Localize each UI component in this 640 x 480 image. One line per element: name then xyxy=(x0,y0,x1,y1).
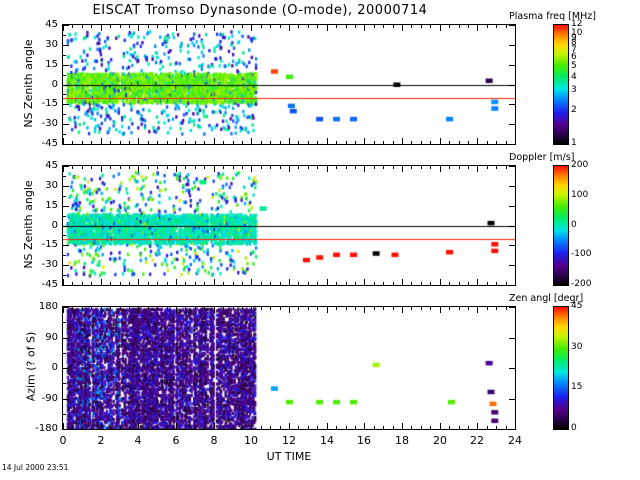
doppler-panel-xminor-tick xyxy=(91,282,92,286)
doppler-panel-xminor-tick xyxy=(251,165,252,169)
plasma-frequency-panel-xminor-tick xyxy=(148,141,149,145)
doppler-panel-xminor-tick xyxy=(449,282,450,286)
azimuth-panel-xminor-tick xyxy=(280,426,281,430)
doppler-panel-xminor-tick xyxy=(261,282,262,286)
plasma-frequency-panel-ytick xyxy=(509,65,516,66)
doppler-panel-xminor-tick xyxy=(233,165,234,169)
azimuth-panel-xminor-tick xyxy=(214,426,215,430)
azimuth-panel-xminor-tick xyxy=(251,306,252,310)
azimuth-panel-xminor-tick xyxy=(157,426,158,430)
plasma-frequency-panel-xminor-tick xyxy=(148,24,149,28)
xaxis-label: UT TIME xyxy=(62,450,516,463)
azimuth-panel-xminor-tick xyxy=(82,306,83,310)
plasma-frequency-panel-xminor-tick xyxy=(496,24,497,28)
doppler-panel-xminor-tick xyxy=(449,165,450,169)
plasma-frequency-panel-xminor-tick xyxy=(101,141,102,145)
doppler-panel-xminor-tick xyxy=(487,165,488,169)
azimuth-panel-xminor-tick xyxy=(63,426,64,430)
doppler-panel-xminor-tick xyxy=(129,282,130,286)
plasma-frequency-panel-yminor-tick xyxy=(62,35,66,36)
azimuth-panel-xminor-tick xyxy=(157,306,158,310)
plasma-frequency-panel-xminor-tick xyxy=(440,141,441,145)
plasma-frequency-panel-ytick xyxy=(509,124,516,125)
azimuth-panel-xminor-tick xyxy=(110,426,111,430)
azimuth-panel-xminor-tick xyxy=(355,306,356,310)
plasma-frequency-panel-ylabel: NS Zenith angle xyxy=(22,3,35,164)
xtick-label: 24 xyxy=(501,434,529,447)
doppler-panel-xminor-tick xyxy=(82,282,83,286)
zenith-angle-colorbar xyxy=(553,306,569,430)
azimuth-panel-xminor-tick xyxy=(515,306,516,310)
azimuth-panel-xminor-tick xyxy=(298,426,299,430)
plasma-frequency-panel-xminor-tick xyxy=(223,24,224,28)
figure-root: EISCAT Tromso Dynasonde (O-mode), 200007… xyxy=(0,0,640,480)
plasma-frequency-panel-xminor-tick xyxy=(138,141,139,145)
azimuth-panel-xminor-tick xyxy=(430,306,431,310)
plasma-frequency-panel-ytick xyxy=(509,85,516,86)
doppler-panel-xminor-tick xyxy=(355,165,356,169)
plasma-frequency-panel-xminor-tick xyxy=(336,141,337,145)
doppler-panel-yminor-tick xyxy=(62,176,66,177)
azimuth-panel-xminor-tick xyxy=(364,426,365,430)
azimuth-panel-xminor-tick xyxy=(449,306,450,310)
azimuth-panel-yminor-tick xyxy=(62,322,66,323)
doppler-panel-xminor-tick xyxy=(393,165,394,169)
doppler-panel-xminor-tick xyxy=(298,282,299,286)
plasma-frequency-panel-xminor-tick xyxy=(167,24,168,28)
azimuth-panel-xminor-tick xyxy=(251,426,252,430)
plasma-frequency-panel-xminor-tick xyxy=(176,141,177,145)
zenith-angle-colorbar-gradient xyxy=(554,307,568,429)
plasma-frequency-panel-ytick xyxy=(509,104,516,105)
azimuth-panel-plot-area[interactable] xyxy=(63,307,515,429)
xtick-label: 22 xyxy=(463,434,491,447)
azimuth-panel-xminor-tick xyxy=(270,306,271,310)
azimuth-panel-xminor-tick xyxy=(298,306,299,310)
plasma-frequency-panel-xminor-tick xyxy=(308,141,309,145)
doppler-panel-xminor-tick xyxy=(298,165,299,169)
azimuth-panel-xminor-tick xyxy=(393,306,394,310)
plasma-frequency-panel-xminor-tick xyxy=(402,24,403,28)
plasma-frequency-panel-xminor-tick xyxy=(63,141,64,145)
plasma-frequency-panel-xminor-tick xyxy=(449,24,450,28)
doppler-panel-xminor-tick xyxy=(138,165,139,169)
doppler-panel-xminor-tick xyxy=(515,165,516,169)
doppler-panel-xminor-tick xyxy=(459,165,460,169)
doppler-panel-xminor-tick xyxy=(63,165,64,169)
azimuth-panel-xminor-tick xyxy=(336,426,337,430)
doppler-panel-xminor-tick xyxy=(185,165,186,169)
plasma-frequency-panel-xminor-tick xyxy=(91,141,92,145)
plasma-frequency-panel-xminor-tick xyxy=(496,141,497,145)
plasma-frequency-panel-xminor-tick xyxy=(110,141,111,145)
doppler-panel-xminor-tick xyxy=(411,282,412,286)
azimuth-panel-yminor-tick xyxy=(62,414,66,415)
doppler-panel-xminor-tick xyxy=(421,282,422,286)
doppler-panel-yminor-tick xyxy=(62,216,66,217)
azimuth-panel-xminor-tick xyxy=(449,426,450,430)
doppler-colorbar-tick-label: 100 xyxy=(571,190,588,200)
plasma-frequency-panel-xminor-tick xyxy=(176,24,177,28)
azimuth-panel-xminor-tick xyxy=(402,426,403,430)
plasma-frequency-panel-xminor-tick xyxy=(261,24,262,28)
plasma-frequency-panel-xminor-tick xyxy=(430,141,431,145)
doppler-panel-xminor-tick xyxy=(402,165,403,169)
plasma-frequency-panel-xminor-tick xyxy=(91,24,92,28)
azimuth-panel-xminor-tick xyxy=(506,426,507,430)
doppler-panel-xminor-tick xyxy=(421,165,422,169)
azimuth-panel-xminor-tick xyxy=(101,426,102,430)
plasma-frequency-panel-xminor-tick xyxy=(430,24,431,28)
azimuth-panel-xminor-tick xyxy=(374,426,375,430)
doppler-panel-yminor-tick xyxy=(62,226,66,227)
doppler-panel-xminor-tick xyxy=(242,282,243,286)
plasma-frequency-panel-xminor-tick xyxy=(374,141,375,145)
plasma-frequency-panel-yminor-tick xyxy=(62,85,66,86)
plasma-frequency-panel-xminor-tick xyxy=(233,24,234,28)
plasma-frequency-panel-xminor-tick xyxy=(280,24,281,28)
plasma-frequency-panel-xminor-tick xyxy=(298,24,299,28)
azimuth-panel-xminor-tick xyxy=(72,426,73,430)
plasma-frequency-panel-xminor-tick xyxy=(515,141,516,145)
doppler-panel-xminor-tick xyxy=(289,165,290,169)
azimuth-panel-xminor-tick xyxy=(91,306,92,310)
plasma-frequency-panel-xminor-tick xyxy=(317,141,318,145)
azimuth-panel-xminor-tick xyxy=(317,306,318,310)
azimuth-panel-xminor-tick xyxy=(261,426,262,430)
azimuth-panel-xminor-tick xyxy=(355,426,356,430)
doppler-colorbar-title: Doppler [m/s] xyxy=(509,152,574,163)
plasma-frequency-panel-xminor-tick xyxy=(185,24,186,28)
azimuth-panel-xminor-tick xyxy=(242,426,243,430)
plasma-frequency-panel-xminor-tick xyxy=(157,24,158,28)
plasma-frequency-panel-xminor-tick xyxy=(82,24,83,28)
azimuth-panel-yminor-tick xyxy=(62,399,66,400)
azimuth-panel-xminor-tick xyxy=(459,426,460,430)
plasma-frequency-panel-xminor-tick xyxy=(242,141,243,145)
doppler-panel-xminor-tick xyxy=(176,282,177,286)
plasma-frequency-panel-xminor-tick xyxy=(157,141,158,145)
plasma-frequency-panel-xminor-tick xyxy=(487,24,488,28)
plasma-frequency-panel-xminor-tick xyxy=(63,24,64,28)
zenith-angle-colorbar-tick-label: 15 xyxy=(571,382,582,392)
plasma-frequency-panel-xminor-tick xyxy=(383,24,384,28)
plasma-frequency-panel-xminor-tick xyxy=(317,24,318,28)
azimuth-panel-xminor-tick xyxy=(496,306,497,310)
azimuth-panel-xminor-tick xyxy=(270,426,271,430)
render-timestamp: 14 Jul 2000 23:51 xyxy=(2,463,68,472)
plasma-freq-colorbar-title: Plasma freq [MHz] xyxy=(509,11,596,22)
azimuth-panel-xminor-tick xyxy=(383,426,384,430)
doppler-panel-xminor-tick xyxy=(346,282,347,286)
doppler-panel-xminor-tick xyxy=(91,165,92,169)
doppler-panel-yminor-tick xyxy=(62,235,66,236)
azimuth-panel-xminor-tick xyxy=(167,306,168,310)
azimuth-panel-yminor-tick xyxy=(62,338,66,339)
plasma-frequency-panel-xminor-tick xyxy=(383,141,384,145)
azimuth-panel-xminor-tick xyxy=(317,426,318,430)
doppler-panel-xminor-tick xyxy=(496,282,497,286)
plasma-frequency-panel-xminor-tick xyxy=(195,141,196,145)
plasma-frequency-panel-xminor-tick xyxy=(346,141,347,145)
azimuth-panel-xminor-tick xyxy=(204,426,205,430)
azimuth-panel-xminor-tick xyxy=(110,306,111,310)
doppler-panel-xminor-tick xyxy=(148,282,149,286)
doppler-panel-xminor-tick xyxy=(336,165,337,169)
doppler-panel-xminor-tick xyxy=(308,165,309,169)
plasma-frequency-panel-xminor-tick xyxy=(251,141,252,145)
azimuth-panel-ytick xyxy=(509,399,516,400)
doppler-panel-xminor-tick xyxy=(148,165,149,169)
plasma-freq-colorbar-tick-label: 2 xyxy=(571,105,577,115)
plasma-frequency-panel-xminor-tick xyxy=(506,24,507,28)
azimuth-panel-xminor-tick xyxy=(346,306,347,310)
plasma-frequency-panel-xminor-tick xyxy=(120,141,121,145)
plasma-frequency-panel-xminor-tick xyxy=(251,24,252,28)
plasma-frequency-panel-yminor-tick xyxy=(62,45,66,46)
plasma-frequency-panel-xminor-tick xyxy=(72,141,73,145)
azimuth-panel-xminor-tick xyxy=(185,306,186,310)
doppler-panel-xminor-tick xyxy=(440,282,441,286)
plasma-frequency-panel-xminor-tick xyxy=(515,24,516,28)
plasma-frequency-panel-xminor-tick xyxy=(477,141,478,145)
azimuth-panel-ylabel: Azim (? of S) xyxy=(25,285,38,449)
azimuth-panel-xminor-tick xyxy=(176,306,177,310)
azimuth-panel-xminor-tick xyxy=(233,426,234,430)
plasma-frequency-panel-yminor-tick xyxy=(62,55,66,56)
azimuth-panel-xminor-tick xyxy=(289,426,290,430)
plasma-frequency-panel-xminor-tick xyxy=(214,24,215,28)
azimuth-panel-xminor-tick xyxy=(477,426,478,430)
plasma-frequency-panel-xminor-tick xyxy=(233,141,234,145)
xtick-label: 2 xyxy=(87,434,115,447)
doppler-panel-xminor-tick xyxy=(157,282,158,286)
plasma-frequency-panel-xminor-tick xyxy=(129,141,130,145)
azimuth-panel-xminor-tick xyxy=(223,306,224,310)
zenith-angle-colorbar-tick-label: 0 xyxy=(571,423,577,433)
azimuth-panel-xminor-tick xyxy=(393,426,394,430)
plasma-frequency-panel-xminor-tick xyxy=(327,24,328,28)
plasma-frequency-panel-xminor-tick xyxy=(364,24,365,28)
doppler-panel-yminor-tick xyxy=(62,186,66,187)
azimuth-panel-xminor-tick xyxy=(327,306,328,310)
plasma-freq-colorbar-tick-label: 4 xyxy=(571,72,577,82)
plasma-frequency-panel-xminor-tick xyxy=(214,141,215,145)
xtick-label: 12 xyxy=(275,434,303,447)
plasma-frequency-panel-xminor-tick xyxy=(506,141,507,145)
doppler-panel-yminor-tick xyxy=(62,275,66,276)
plasma-frequency-panel-xminor-tick xyxy=(82,141,83,145)
doppler-panel-xminor-tick xyxy=(223,282,224,286)
doppler-panel-xminor-tick xyxy=(233,282,234,286)
xtick-label: 10 xyxy=(237,434,265,447)
azimuth-panel-xminor-tick xyxy=(459,306,460,310)
doppler-panel-xminor-tick xyxy=(251,282,252,286)
azimuth-panel-xminor-tick xyxy=(129,306,130,310)
doppler-panel-xminor-tick xyxy=(157,165,158,169)
azimuth-panel-xminor-tick xyxy=(487,306,488,310)
azimuth-panel-xminor-tick xyxy=(185,426,186,430)
doppler-panel-xminor-tick xyxy=(346,165,347,169)
plasma-frequency-panel-xminor-tick xyxy=(72,24,73,28)
azimuth-panel-xminor-tick xyxy=(148,426,149,430)
plasma-frequency-panel-xminor-tick xyxy=(459,24,460,28)
azimuth-panel-xminor-tick xyxy=(195,426,196,430)
plasma-frequency-panel-xminor-tick xyxy=(270,141,271,145)
azimuth-panel-xminor-tick xyxy=(421,426,422,430)
azimuth-panel-xminor-tick xyxy=(223,426,224,430)
plasma-frequency-panel-xminor-tick xyxy=(204,141,205,145)
plasma-frequency-panel-yminor-tick xyxy=(62,104,66,105)
doppler-panel-xminor-tick xyxy=(411,165,412,169)
doppler-panel-ytick xyxy=(509,245,516,246)
azimuth-panel-xminor-tick xyxy=(120,306,121,310)
azimuth-panel-xminor-tick xyxy=(148,306,149,310)
doppler-panel-xminor-tick xyxy=(270,165,271,169)
plasma-frequency-panel-xminor-tick xyxy=(487,141,488,145)
doppler-panel-xminor-tick xyxy=(223,165,224,169)
azimuth-panel-xminor-tick xyxy=(176,426,177,430)
doppler-panel-plot-area[interactable] xyxy=(63,166,515,285)
doppler-panel-xminor-tick xyxy=(393,282,394,286)
xtick-label: 4 xyxy=(124,434,152,447)
azimuth-panel-ytick xyxy=(509,338,516,339)
doppler-colorbar-tick-label: -200 xyxy=(571,279,591,289)
azimuth-panel-xminor-tick xyxy=(242,306,243,310)
doppler-panel-xminor-tick xyxy=(506,165,507,169)
doppler-panel-xminor-tick xyxy=(101,282,102,286)
azimuth-panel-xminor-tick xyxy=(440,426,441,430)
plasma-frequency-panel-yminor-tick xyxy=(62,124,66,125)
azimuth-panel-xminor-tick xyxy=(72,306,73,310)
plasma-frequency-panel-xminor-tick xyxy=(421,141,422,145)
azimuth-panel-xminor-tick xyxy=(214,306,215,310)
doppler-panel-xminor-tick xyxy=(327,165,328,169)
plasma-frequency-panel-xminor-tick xyxy=(364,141,365,145)
doppler-panel-xminor-tick xyxy=(468,165,469,169)
azimuth-panel-xminor-tick xyxy=(138,306,139,310)
plasma-frequency-panel-xminor-tick xyxy=(468,141,469,145)
doppler-panel-yminor-tick xyxy=(62,206,66,207)
xtick-label: 0 xyxy=(49,434,77,447)
doppler-panel-xminor-tick xyxy=(440,165,441,169)
doppler-panel-xminor-tick xyxy=(468,282,469,286)
plasma-frequency-panel-xminor-tick xyxy=(346,24,347,28)
plasma-frequency-panel-xminor-tick xyxy=(411,141,412,145)
doppler-panel-xminor-tick xyxy=(185,282,186,286)
plasma-frequency-panel-xminor-tick xyxy=(308,24,309,28)
azimuth-panel-xminor-tick xyxy=(280,306,281,310)
doppler-colorbar xyxy=(553,165,569,286)
azimuth-panel-xminor-tick xyxy=(421,306,422,310)
doppler-panel-xminor-tick xyxy=(308,282,309,286)
plasma-freq-colorbar-tick-label: 3 xyxy=(571,85,577,95)
doppler-panel-yminor-tick xyxy=(62,265,66,266)
doppler-panel-xminor-tick xyxy=(120,165,121,169)
plasma-frequency-panel-xminor-tick xyxy=(327,141,328,145)
xtick-label: 20 xyxy=(426,434,454,447)
doppler-panel-yminor-tick xyxy=(62,255,66,256)
plasma-frequency-panel-plot-area[interactable] xyxy=(63,25,515,144)
xtick-label: 8 xyxy=(200,434,228,447)
plasma-frequency-panel-yminor-tick xyxy=(62,114,66,115)
plasma-frequency-panel-xminor-tick xyxy=(242,24,243,28)
plasma-frequency-panel-xminor-tick xyxy=(185,141,186,145)
doppler-panel-ytick xyxy=(509,206,516,207)
page-title: EISCAT Tromso Dynasonde (O-mode), 200007… xyxy=(0,3,520,18)
doppler-colorbar-tick-label: 0 xyxy=(571,220,577,230)
xtick-label: 18 xyxy=(388,434,416,447)
plasma-frequency-panel-xminor-tick xyxy=(355,24,356,28)
azimuth-panel-xminor-tick xyxy=(383,306,384,310)
plasma-frequency-panel-xminor-tick xyxy=(402,141,403,145)
azimuth-panel-xminor-tick xyxy=(129,426,130,430)
doppler-panel-xminor-tick xyxy=(364,165,365,169)
doppler-panel-xminor-tick xyxy=(336,282,337,286)
doppler-colorbar-tick-label: 200 xyxy=(571,160,588,170)
doppler-panel-xminor-tick xyxy=(496,165,497,169)
doppler-panel-xminor-tick xyxy=(289,282,290,286)
azimuth-panel-xminor-tick xyxy=(364,306,365,310)
azimuth-panel-xminor-tick xyxy=(327,426,328,430)
azimuth-panel-xminor-tick xyxy=(195,306,196,310)
plasma-frequency-panel-xminor-tick xyxy=(449,141,450,145)
azimuth-panel-xminor-tick xyxy=(487,426,488,430)
azimuth-panel-xminor-tick xyxy=(82,426,83,430)
azimuth-panel-xminor-tick xyxy=(440,306,441,310)
azimuth-panel-xminor-tick xyxy=(261,306,262,310)
doppler-panel-xminor-tick xyxy=(195,282,196,286)
plasma-freq-colorbar-tick-label: 5 xyxy=(571,61,577,71)
doppler-panel-xminor-tick xyxy=(459,282,460,286)
plasma-frequency-panel-xminor-tick xyxy=(101,24,102,28)
azimuth-panel-xminor-tick xyxy=(411,426,412,430)
doppler-panel-xminor-tick xyxy=(214,165,215,169)
doppler-panel-ytick xyxy=(509,265,516,266)
plasma-frequency-panel-xminor-tick xyxy=(468,24,469,28)
plasma-frequency-panel-xminor-tick xyxy=(421,24,422,28)
doppler-panel-xminor-tick xyxy=(402,282,403,286)
plasma-frequency-panel-xminor-tick xyxy=(459,141,460,145)
azimuth-panel-xminor-tick xyxy=(91,426,92,430)
doppler-panel-xminor-tick xyxy=(515,282,516,286)
azimuth-panel-xminor-tick xyxy=(233,306,234,310)
azimuth-panel-xminor-tick xyxy=(468,426,469,430)
plasma-freq-colorbar-tick-label: 1 xyxy=(571,138,577,148)
doppler-panel-xminor-tick xyxy=(374,282,375,286)
doppler-panel-ylabel: NS Zenith angle xyxy=(22,144,35,305)
plasma-frequency-panel-xminor-tick xyxy=(374,24,375,28)
doppler-panel-xminor-tick xyxy=(355,282,356,286)
doppler-panel-xminor-tick xyxy=(72,165,73,169)
plasma-frequency-panel-xminor-tick xyxy=(298,141,299,145)
doppler-panel-xminor-tick xyxy=(506,282,507,286)
plasma-frequency-panel-yminor-tick xyxy=(62,94,66,95)
plasma-frequency-panel-yminor-tick xyxy=(62,134,66,135)
doppler-panel xyxy=(62,165,516,286)
zenith-angle-colorbar-tick-label: 30 xyxy=(571,342,582,352)
doppler-panel-xminor-tick xyxy=(195,165,196,169)
doppler-panel-ytick xyxy=(509,226,516,227)
plasma-frequency-panel-xminor-tick xyxy=(204,24,205,28)
azimuth-panel-xminor-tick xyxy=(63,306,64,310)
doppler-panel-xminor-tick xyxy=(477,282,478,286)
zenith-angle-colorbar-tick-label: 45 xyxy=(571,301,582,311)
doppler-panel-xminor-tick xyxy=(280,282,281,286)
doppler-panel-xminor-tick xyxy=(261,165,262,169)
doppler-panel-yminor-tick xyxy=(62,245,66,246)
azimuth-panel-xminor-tick xyxy=(496,426,497,430)
